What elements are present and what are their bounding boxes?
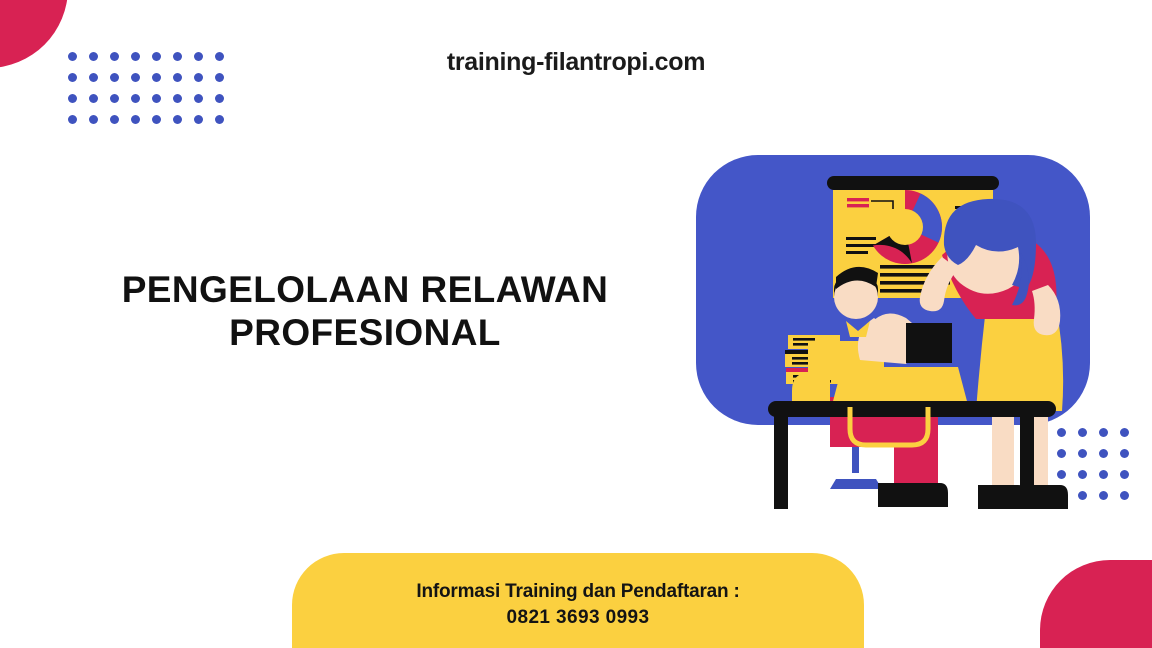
dot — [173, 115, 182, 124]
dot — [1120, 449, 1129, 458]
dot — [152, 115, 161, 124]
dot — [68, 115, 77, 124]
cta-heading: Informasi Training dan Pendaftaran : — [416, 581, 739, 603]
dot — [1099, 470, 1108, 479]
dot — [215, 115, 224, 124]
dot — [152, 94, 161, 103]
dot — [1120, 470, 1129, 479]
training-illustration — [690, 145, 1090, 513]
dot — [110, 115, 119, 124]
dot — [173, 94, 182, 103]
corner-decoration-bottom-right — [1040, 560, 1152, 648]
dot — [68, 94, 77, 103]
dot — [110, 94, 119, 103]
page-title: PENGELOLAAN RELAWAN PROFESIONAL — [60, 268, 670, 355]
dot — [215, 94, 224, 103]
dot — [194, 94, 203, 103]
dot — [1120, 428, 1129, 437]
dot — [131, 94, 140, 103]
dot — [1120, 491, 1129, 500]
cta-phone-number[interactable]: 0821 3693 0993 — [507, 607, 650, 629]
site-url: training-filantropi.com — [0, 48, 1152, 77]
promo-banner: training-filantropi.com PENGELOLAAN RELA… — [0, 0, 1152, 648]
dot — [1099, 491, 1108, 500]
dot — [131, 115, 140, 124]
dot — [89, 94, 98, 103]
dot — [89, 115, 98, 124]
cta-banner[interactable]: Informasi Training dan Pendaftaran : 082… — [292, 553, 864, 648]
dot — [1099, 428, 1108, 437]
dot — [194, 115, 203, 124]
dot — [1099, 449, 1108, 458]
